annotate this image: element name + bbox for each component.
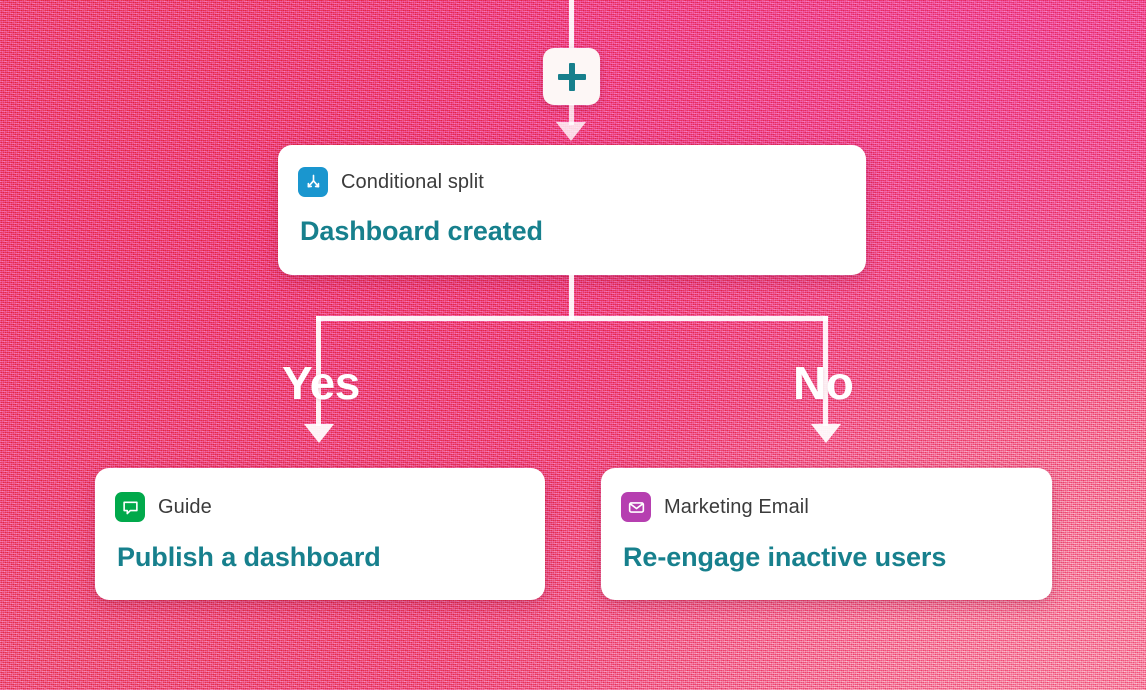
plus-icon — [558, 63, 586, 91]
node-card-guide[interactable]: Guide Publish a dashboard — [95, 468, 545, 600]
connector-line-top — [569, 0, 574, 50]
envelope-icon — [621, 492, 651, 522]
workflow-canvas[interactable]: Conditional split Dashboard created Yes … — [0, 0, 1146, 690]
branch-label-no: No — [793, 360, 853, 406]
node-card-conditional-split[interactable]: Conditional split Dashboard created — [278, 145, 866, 275]
node-title: Dashboard created — [300, 216, 866, 247]
node-card-header: Guide — [115, 492, 545, 522]
node-type-label: Marketing Email — [664, 496, 809, 519]
node-card-header: Conditional split — [298, 167, 866, 197]
node-title: Re-engage inactive users — [623, 542, 1052, 573]
arrow-head-no — [811, 424, 841, 443]
node-card-marketing-email[interactable]: Marketing Email Re-engage inactive users — [601, 468, 1052, 600]
node-type-label: Conditional split — [341, 171, 484, 194]
speech-bubble-icon — [115, 492, 145, 522]
connector-trunk-split — [569, 275, 574, 320]
node-type-label: Guide — [158, 496, 212, 519]
node-title: Publish a dashboard — [117, 542, 545, 573]
node-card-header: Marketing Email — [621, 492, 1052, 522]
arrow-head-to-split — [556, 122, 586, 141]
branch-split-icon — [298, 167, 328, 197]
arrow-head-yes — [304, 424, 334, 443]
connector-horizontal-branch — [316, 316, 828, 321]
branch-label-yes: Yes — [282, 360, 360, 406]
add-step-button[interactable] — [543, 48, 600, 105]
